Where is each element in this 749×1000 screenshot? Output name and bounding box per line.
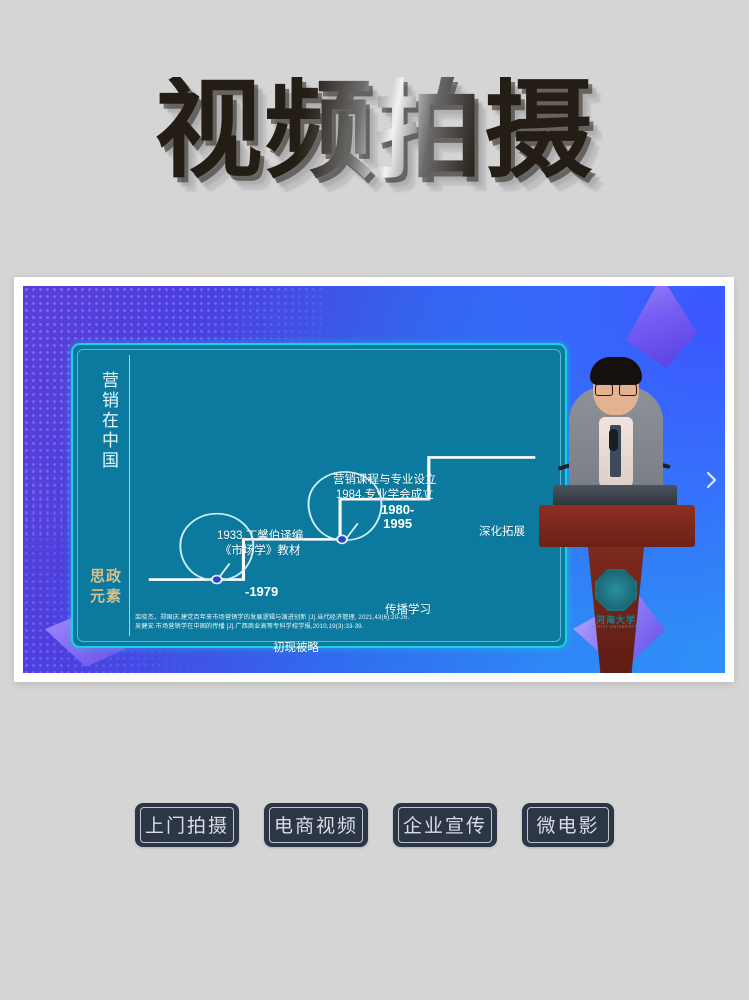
- slide-vertical-tag: 思政元素: [86, 567, 126, 606]
- pin-label-1980-line1: 1980-: [381, 503, 414, 517]
- decorative-shard-top-right: [623, 286, 697, 368]
- content-panel: 营销在中国 思政元素 1933.丁馨伯译编: [71, 343, 567, 648]
- pin-label-1980-line2: 1995: [381, 517, 414, 531]
- presenter-glasses-icon: [595, 384, 637, 394]
- timeline-step-chart: 1933.丁馨伯译编 《市场学》教材 营销课程与专业设立 1984.专业学会成立…: [133, 353, 557, 594]
- stage-label-chuxian-beilue: 初现被略: [273, 641, 319, 656]
- tag-button-row: 上门拍摄 电商视频 企业宣传 微电影: [0, 803, 749, 847]
- handheld-microphone-icon: [609, 429, 618, 451]
- panel-vertical-divider: [129, 355, 130, 636]
- citation-line-2: 吴健安.市场营销学在中国的传播 [J].广西商业高等专科学校学报,2010,19…: [135, 622, 551, 632]
- laptop-on-podium: [553, 485, 677, 507]
- annotation-1933-line1: 1933.丁馨伯译编: [217, 529, 303, 544]
- tag-button-shangmen-paishe[interactable]: 上门拍摄: [135, 803, 239, 847]
- hero-section: 视频拍摄: [0, 58, 749, 203]
- pin-dot-1980: [337, 535, 347, 543]
- slide-vertical-title: 营销在中国: [89, 371, 119, 471]
- slide-preview-frame[interactable]: 营销在中国 思政元素 1933.丁馨伯译编: [14, 277, 734, 682]
- podium-top: [539, 505, 695, 547]
- slide-canvas: 营销在中国 思政元素 1933.丁馨伯译编: [23, 286, 725, 673]
- tag-button-wei-dianying[interactable]: 微电影: [522, 803, 614, 847]
- pin-label-1979: -1979: [245, 585, 278, 599]
- tag-button-dianshang-shipin[interactable]: 电商视频: [264, 803, 368, 847]
- podium-logo-subtext: HOHAI UNIVERSITY: [581, 624, 651, 629]
- pin-dot-1979: [212, 576, 222, 584]
- annotation-1984: 营销课程与专业设立 1984.专业学会成立: [333, 473, 437, 503]
- tag-button-qiye-xuanchuan[interactable]: 企业宣传: [393, 803, 497, 847]
- presenter-figure: 河海大学 HOHAI UNIVERSITY: [517, 373, 717, 673]
- citation-line-1: 栾晓杰，郑国庆.建党百年来市场营销学的发展逻辑与演进创新 [J].当代经济管理,…: [135, 613, 551, 623]
- pin-label-1980-1995: 1980- 1995: [381, 503, 414, 532]
- page-title: 视频拍摄: [154, 77, 594, 185]
- annotation-1984-line1: 营销课程与专业设立: [333, 473, 437, 488]
- citation-block: 栾晓杰，郑国庆.建党百年来市场营销学的发展逻辑与演进创新 [J].当代经济管理,…: [135, 613, 551, 632]
- presenter-hair: [590, 357, 642, 385]
- chevron-right-icon[interactable]: [705, 469, 719, 491]
- annotation-1933-line2: 《市场学》教材: [217, 544, 303, 559]
- annotation-1933: 1933.丁馨伯译编 《市场学》教材: [217, 529, 303, 559]
